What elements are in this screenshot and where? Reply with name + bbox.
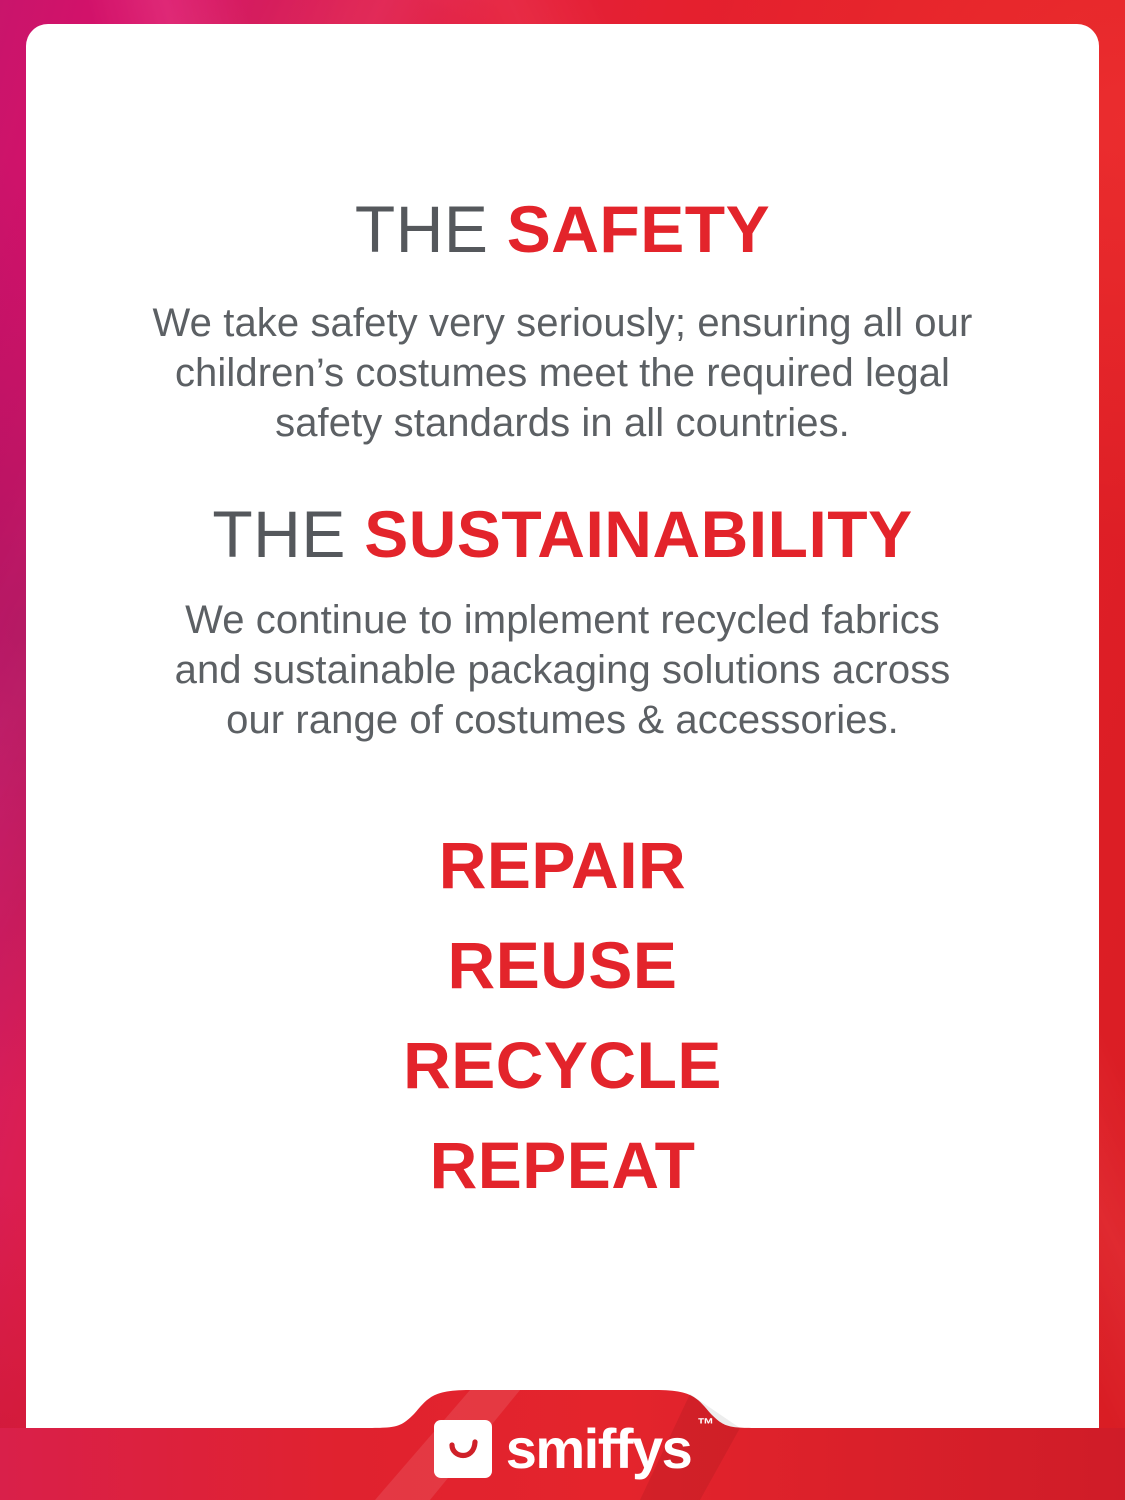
slogan-line-repair: REPAIR [0,815,1125,915]
body-line: We continue to implement recycled fabric… [0,595,1125,645]
body-line: We take safety very seriously; ensuring … [0,298,1125,348]
section-heading-safety: THE SAFETY [0,196,1125,262]
slogan-line-repeat: REPEAT [0,1115,1125,1215]
body-line: children’s costumes meet the required le… [0,348,1125,398]
smiffys-logo: smiffys ™ [0,1406,1125,1492]
trademark-symbol: ™ [697,1416,714,1433]
body-line: and sustainable packaging solutions acro… [0,645,1125,695]
slogan-line-reuse: REUSE [0,915,1125,1015]
body-line: our range of costumes & accessories. [0,695,1125,745]
smile-badge [434,1420,492,1478]
heading-prefix: THE [355,192,489,266]
section-body-sustainability: We continue to implement recycled fabric… [0,595,1125,745]
heading-emphasis: SUSTAINABILITY [364,497,912,571]
section-heading-sustainability: THE SUSTAINABILITY [0,501,1125,567]
heading-emphasis: SAFETY [507,192,770,266]
slogan-block: REPAIR REUSE RECYCLE REPEAT [0,815,1125,1215]
slogan-line-recycle: RECYCLE [0,1015,1125,1115]
body-line: safety standards in all countries. [0,398,1125,448]
poster: THE SAFETY We take safety very seriously… [0,0,1125,1500]
heading-prefix: THE [212,497,346,571]
smile-icon [442,1428,484,1470]
logo-wordmark-text: smiffys ™ [506,1420,692,1478]
section-body-safety: We take safety very seriously; ensuring … [0,298,1125,448]
logo-wordmark-label: smiffys [506,1417,692,1480]
